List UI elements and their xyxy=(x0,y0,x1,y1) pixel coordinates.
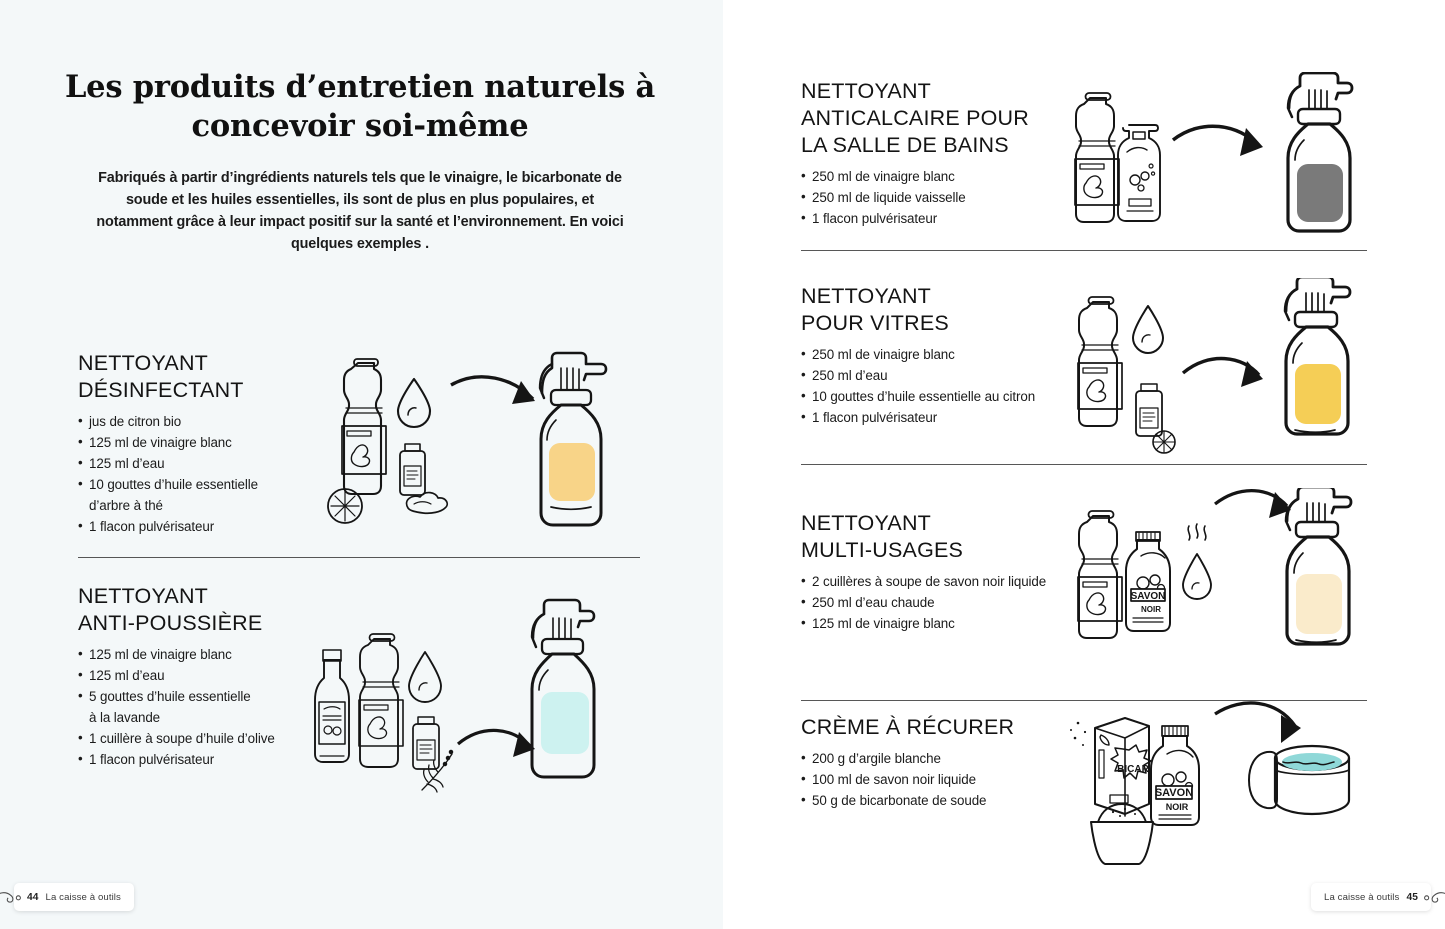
list-item: 250 ml de vinaigre blanc xyxy=(801,166,1061,187)
water-drop-icon xyxy=(1133,306,1163,353)
list-item: 1 flacon pulvérisateur xyxy=(78,516,328,537)
savon-noir-bottle-icon: SAVON NOIR xyxy=(1126,532,1170,631)
folio-right[interactable]: La caisse à outils 45 xyxy=(1311,883,1431,911)
arrow-icon xyxy=(1215,703,1301,743)
list-item: 10 gouttes d’huile essentielle au citron xyxy=(801,386,1101,407)
list-item: 125 ml d’eau xyxy=(78,453,328,474)
arrow-icon xyxy=(458,730,535,757)
lavender-icon xyxy=(422,750,453,792)
soap-sublabel-text: NOIR xyxy=(1141,605,1161,614)
essential-oil-bottle-icon xyxy=(400,444,425,495)
ingredient-list: 250 ml de vinaigre blanc 250 ml d’eau 10… xyxy=(801,344,1101,428)
folio-section-label: La caisse à outils xyxy=(46,892,121,903)
soap-label-text: SAVON xyxy=(1131,591,1166,602)
folio-page-number: 44 xyxy=(27,892,39,903)
spray-bottle-icon xyxy=(540,353,606,525)
folio-page-number: 45 xyxy=(1406,892,1418,903)
section-divider xyxy=(801,464,1367,465)
illustration-multi-usages: SAVON NOIR xyxy=(1063,488,1393,673)
spray-liquid-fill xyxy=(541,692,589,754)
section-divider xyxy=(78,557,640,558)
lemon-icon xyxy=(328,489,362,523)
book-spread: Les produits d’entretien naturels à conc… xyxy=(0,0,1445,929)
essential-oil-bottle-icon xyxy=(413,717,439,769)
vinegar-bottle-icon xyxy=(1075,93,1119,222)
list-item: 10 gouttes d’huile essentielle d’arbre à… xyxy=(78,474,328,516)
recipe-title: NETTOYANT ANTICALCAIRE POUR LA SALLE DE … xyxy=(801,78,1061,159)
vinegar-bottle-icon xyxy=(1078,297,1122,426)
spray-liquid-fill xyxy=(1295,364,1341,424)
ingredient-list: 250 ml de vinaigre blanc 250 ml de liqui… xyxy=(801,166,1061,229)
illustration-desinfectant xyxy=(318,336,618,546)
spray-liquid-fill xyxy=(1297,164,1343,222)
vinegar-bottle-icon xyxy=(359,634,403,767)
list-item: 1 flacon pulvérisateur xyxy=(801,407,1101,428)
folio-left[interactable]: 44 La caisse à outils xyxy=(14,883,134,911)
water-drop-icon xyxy=(409,652,441,702)
list-item: 125 ml de vinaigre blanc xyxy=(78,432,328,453)
recipe-title: NETTOYANT POUR VITRES xyxy=(801,283,1101,337)
list-item: 2 cuillères à soupe de savon noir liquid… xyxy=(801,571,1101,592)
sprinkle-dots xyxy=(1070,722,1086,746)
list-item: jus de citron bio xyxy=(78,411,328,432)
list-item: 250 ml de vinaigre blanc xyxy=(801,344,1101,365)
steam-drop-icon xyxy=(1183,524,1211,599)
recipe-block-desinfectant: NETTOYANT DÉSINFECTANT jus de citron bio… xyxy=(78,350,328,537)
illustration-anticalcaire xyxy=(1063,72,1393,257)
arrow-icon xyxy=(1183,359,1263,387)
vinegar-bottle-icon xyxy=(1078,511,1122,638)
soap-label-text: SAVON xyxy=(1155,787,1193,799)
recipe-block-vitres: NETTOYANT POUR VITRES 250 ml de vinaigre… xyxy=(801,283,1101,428)
jar-icon xyxy=(1249,746,1349,814)
left-page: Les produits d’entretien naturels à conc… xyxy=(0,0,723,929)
essential-oil-bottle-icon xyxy=(1136,384,1162,436)
spray-bottle-icon xyxy=(1288,73,1352,231)
page-intro-paragraph: Fabriqués à partir d’ingrédients naturel… xyxy=(86,168,634,256)
spray-liquid-fill xyxy=(1296,574,1342,634)
section-divider xyxy=(801,250,1367,251)
soap-cloth-icon xyxy=(407,493,448,514)
dish-soap-bottle-icon xyxy=(1118,125,1160,221)
arrow-icon xyxy=(1173,126,1263,156)
list-item: 125 ml de vinaigre blanc xyxy=(801,613,1101,634)
recipe-block-multi-usages: NETTOYANT MULTI-USAGES 2 cuillères à sou… xyxy=(801,510,1101,634)
illustration-anti-poussiere xyxy=(300,592,615,809)
folio-section-label: La caisse à outils xyxy=(1324,892,1399,903)
recipe-title: NETTOYANT MULTI-USAGES xyxy=(801,510,1101,564)
bicarb-label-text: BICAR xyxy=(1117,764,1149,775)
soap-sublabel-text: NOIR xyxy=(1166,802,1189,812)
bicarbonate-box-icon: BICAR xyxy=(1070,718,1151,816)
water-drop-icon xyxy=(398,379,430,427)
spray-bottle-icon xyxy=(1285,278,1350,434)
list-item: 250 ml d’eau chaude xyxy=(801,592,1101,613)
list-item: 250 ml de liquide vaisselle xyxy=(801,187,1061,208)
arrow-icon xyxy=(1215,491,1291,518)
spray-bottle-icon xyxy=(532,600,594,777)
ingredient-list: jus de citron bio 125 ml de vinaigre bla… xyxy=(78,411,328,537)
ingredient-list: 2 cuillères à soupe de savon noir liquid… xyxy=(801,571,1101,634)
recipe-title: NETTOYANT DÉSINFECTANT xyxy=(78,350,328,404)
list-item: 1 flacon pulvérisateur xyxy=(801,208,1061,229)
olive-oil-bottle-icon xyxy=(315,650,349,762)
illustration-vitres xyxy=(1063,278,1393,463)
right-page: NETTOYANT ANTICALCAIRE POUR LA SALLE DE … xyxy=(723,0,1445,929)
swirl-icon xyxy=(1419,889,1445,905)
list-item: 250 ml d’eau xyxy=(801,365,1101,386)
powder-dots xyxy=(1112,808,1136,817)
recipe-block-anticalcaire: NETTOYANT ANTICALCAIRE POUR LA SALLE DE … xyxy=(801,78,1061,229)
vinegar-bottle-icon xyxy=(342,359,386,494)
arrow-icon xyxy=(451,377,535,404)
spray-liquid-fill xyxy=(549,443,595,501)
savon-noir-bottle-icon: SAVON NOIR xyxy=(1151,726,1199,825)
spray-bottle-icon xyxy=(1286,488,1351,644)
illustration-creme-a-recurer: BICAR xyxy=(1053,700,1393,875)
swirl-icon xyxy=(0,889,26,905)
page-title: Les produits d’entretien naturels à conc… xyxy=(60,68,660,145)
lemon-icon xyxy=(1153,431,1175,453)
